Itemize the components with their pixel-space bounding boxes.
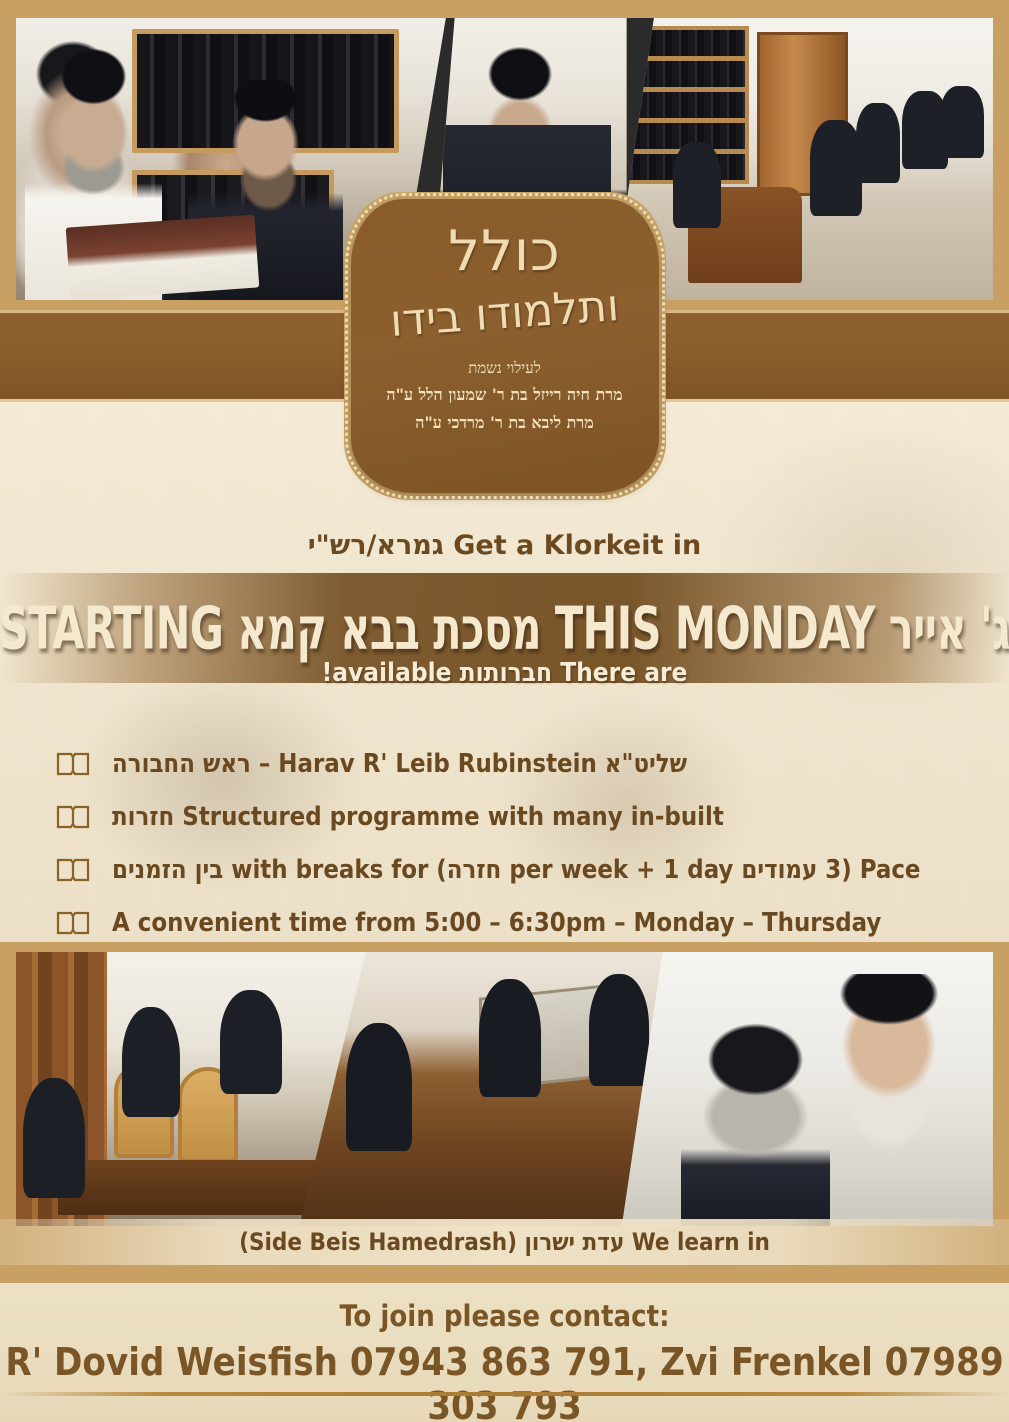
- list-item: Pace (3 עמודים per week + 1 day חזרה) wi…: [56, 844, 953, 896]
- list-item: שליט"א Harav R' Leib Rubinstein – ראש הח…: [56, 738, 953, 790]
- location-bar: We learn in עדת ישרון (Side Beis Hamedra…: [0, 1219, 1009, 1265]
- tagline: Get a Klorkeit in גמרא/רש"י: [0, 530, 1009, 561]
- list-item-label: שליט"א Harav R' Leib Rubinstein – ראש הח…: [112, 749, 687, 779]
- list-item: Structured programme with many in-built …: [56, 791, 953, 843]
- dedication-block: לעילוי נשמת מרת חיה רייזל בת ר' שמעון הל…: [386, 355, 622, 437]
- list-item-label: A convenient time from 5:00 – 6:30pm – M…: [112, 908, 881, 938]
- list-item-label: Pace (3 עמודים per week + 1 day חזרה) wi…: [112, 855, 921, 885]
- open-book-icon: [56, 856, 90, 884]
- location-text: We learn in עדת ישרון (Side Beis Hamedra…: [239, 1228, 770, 1256]
- logo-line-2: ותלמודו בידו: [388, 280, 620, 347]
- photo-beis-medrash-room: [612, 18, 993, 300]
- dedication-line-2: מרת ליבא בת ר' מרדכי ע"ה: [386, 409, 622, 437]
- dedication-intro: לעילוי נשמת: [386, 355, 622, 381]
- photo-discussion-pair: [622, 952, 993, 1226]
- open-book-icon: [56, 803, 90, 831]
- logo-line-1: כולל: [448, 223, 561, 282]
- open-book-icon: [56, 909, 90, 937]
- footer-divider: [0, 1392, 1009, 1396]
- contact-heading: To join please contact:: [0, 1299, 1009, 1333]
- contact-details[interactable]: R' Dovid Weisfish 07943 863 791, Zvi Fre…: [0, 1340, 1009, 1422]
- kollel-logo-badge: כולל ותלמודו בידו לעילוי נשמת מרת חיה רי…: [344, 192, 666, 500]
- list-item-label: Structured programme with many in-built …: [112, 802, 724, 832]
- bottom-photo-collage: [0, 942, 1009, 1234]
- open-book-icon: [56, 750, 90, 778]
- poster-root: כולל ותלמודו בידו לעילוי נשמת מרת חיה רי…: [0, 0, 1009, 1422]
- footer-contact: To join please contact: R' Dovid Weisfis…: [0, 1283, 1009, 1422]
- dedication-line-1: מרת חיה רייזל בת ר' שמעון הלל ע"ה: [386, 381, 622, 409]
- sub-heading: There are חברותות available!: [0, 658, 1009, 688]
- main-heading: ג' אייר THIS MONDAY מסכת בבא קמא STARTIN…: [0, 593, 1009, 662]
- feature-list: שליט"א Harav R' Leib Rubinstein – ראש הח…: [0, 738, 1009, 950]
